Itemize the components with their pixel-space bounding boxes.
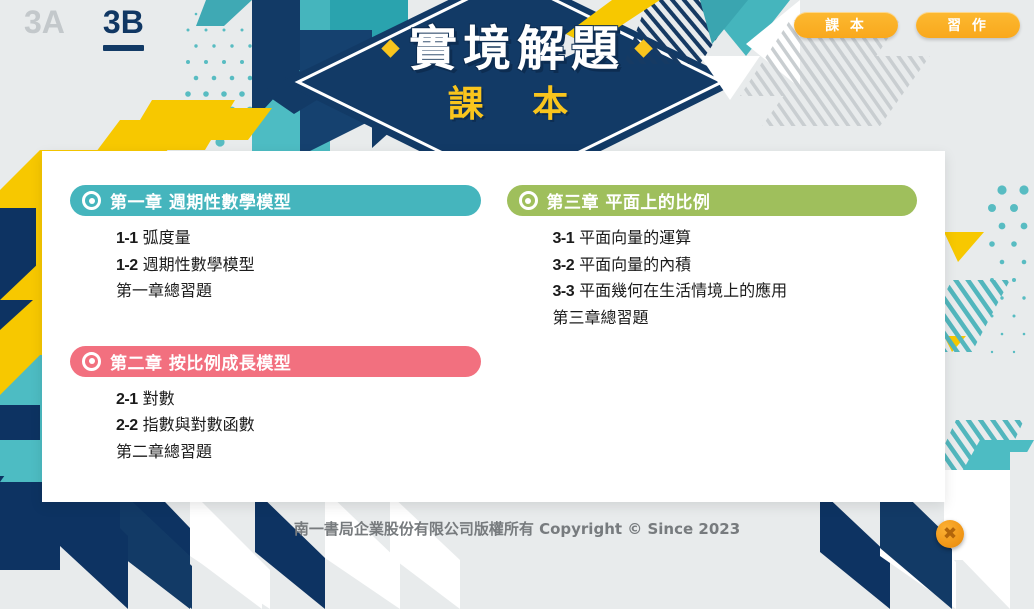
chapter-2: 第二章 按比例成長模型 2-1對數 2-2指數與對數函數 第二章總習題: [70, 346, 481, 465]
section-label: 指數與對數函數: [143, 415, 255, 434]
list-item[interactable]: 第二章總習題: [116, 439, 481, 465]
app-root: 3A 3B 課 本 習 作 實境解題 課 本 第一章 週期性數學模型: [0, 0, 1034, 609]
tab-3b-label: 3B: [103, 4, 144, 40]
section-label: 弧度量: [143, 228, 191, 247]
list-item[interactable]: 2-2指數與對數函數: [116, 412, 481, 439]
list-item[interactable]: 3-2平面向量的內積: [553, 252, 918, 279]
chapter-1-sections: 1-1弧度量 1-2週期性數學模型 第一章總習題: [70, 216, 481, 304]
list-item[interactable]: 1-1弧度量: [116, 225, 481, 252]
copyright-footer: 南一書局企業股份有限公司版權所有 Copyright © Since 2023: [0, 518, 1034, 539]
section-label: 平面向量的運算: [579, 228, 691, 247]
target-ring-icon: [519, 191, 538, 210]
list-item[interactable]: 第三章總習題: [553, 305, 918, 331]
chapter-3-title: 第三章 平面上的比例: [547, 188, 711, 213]
section-label: 平面幾何在生活情境上的應用: [579, 281, 787, 300]
chapter-2-header[interactable]: 第二章 按比例成長模型: [70, 346, 481, 377]
section-label: 平面向量的內積: [579, 255, 691, 274]
section-label: 對數: [143, 389, 175, 408]
tab-3b[interactable]: 3B: [103, 2, 144, 45]
list-item[interactable]: 3-1平面向量的運算: [553, 225, 918, 252]
chapter-1-header[interactable]: 第一章 週期性數學模型: [70, 185, 481, 216]
section-label: 週期性數學模型: [143, 255, 255, 274]
section-label: 第一章總習題: [116, 281, 212, 300]
list-item[interactable]: 3-3平面幾何在生活情境上的應用: [553, 278, 918, 305]
grade-tabs: 3A 3B: [24, 2, 144, 45]
chapter-1-title: 第一章 週期性數學模型: [110, 188, 291, 213]
column-right: 第三章 平面上的比例 3-1平面向量的運算 3-2平面向量的內積 3-3平面幾何…: [507, 185, 918, 464]
chapter-columns: 第一章 週期性數學模型 1-1弧度量 1-2週期性數學模型 第一章總習題 第二章…: [42, 151, 945, 464]
tab-active-underline: [103, 45, 144, 51]
target-ring-icon: [82, 191, 101, 210]
chapter-3: 第三章 平面上的比例 3-1平面向量的運算 3-2平面向量的內積 3-3平面幾何…: [507, 185, 918, 330]
chapter-3-header[interactable]: 第三章 平面上的比例: [507, 185, 918, 216]
section-number: 2-2: [116, 417, 138, 434]
content-card: 第一章 週期性數學模型 1-1弧度量 1-2週期性數學模型 第一章總習題 第二章…: [42, 151, 945, 502]
textbook-button[interactable]: 課 本: [794, 12, 898, 38]
section-number: 3-3: [553, 283, 575, 300]
target-ring-icon: [82, 352, 101, 371]
section-number: 1-2: [116, 257, 138, 274]
section-number: 2-1: [116, 391, 138, 408]
section-label: 第三章總習題: [553, 308, 649, 327]
workbook-button[interactable]: 習 作: [916, 12, 1020, 38]
close-button[interactable]: ✖: [936, 520, 964, 548]
column-left: 第一章 週期性數學模型 1-1弧度量 1-2週期性數學模型 第一章總習題 第二章…: [70, 185, 481, 464]
tab-3a[interactable]: 3A: [24, 2, 65, 45]
section-number: 3-1: [553, 230, 575, 247]
section-label: 第二章總習題: [116, 442, 212, 461]
chapter-1: 第一章 週期性數學模型 1-1弧度量 1-2週期性數學模型 第一章總習題: [70, 185, 481, 304]
chapter-3-sections: 3-1平面向量的運算 3-2平面向量的內積 3-3平面幾何在生活情境上的應用 第…: [507, 216, 918, 330]
list-item[interactable]: 2-1對數: [116, 386, 481, 413]
tab-3a-label: 3A: [24, 4, 65, 40]
section-number: 1-1: [116, 230, 138, 247]
list-item[interactable]: 1-2週期性數學模型: [116, 252, 481, 279]
chapter-2-title: 第二章 按比例成長模型: [110, 349, 291, 374]
chapter-2-sections: 2-1對數 2-2指數與對數函數 第二章總習題: [70, 377, 481, 465]
close-icon: ✖: [943, 526, 957, 543]
section-number: 3-2: [553, 257, 575, 274]
list-item[interactable]: 第一章總習題: [116, 278, 481, 304]
top-button-group: 課 本 習 作: [794, 12, 1020, 38]
